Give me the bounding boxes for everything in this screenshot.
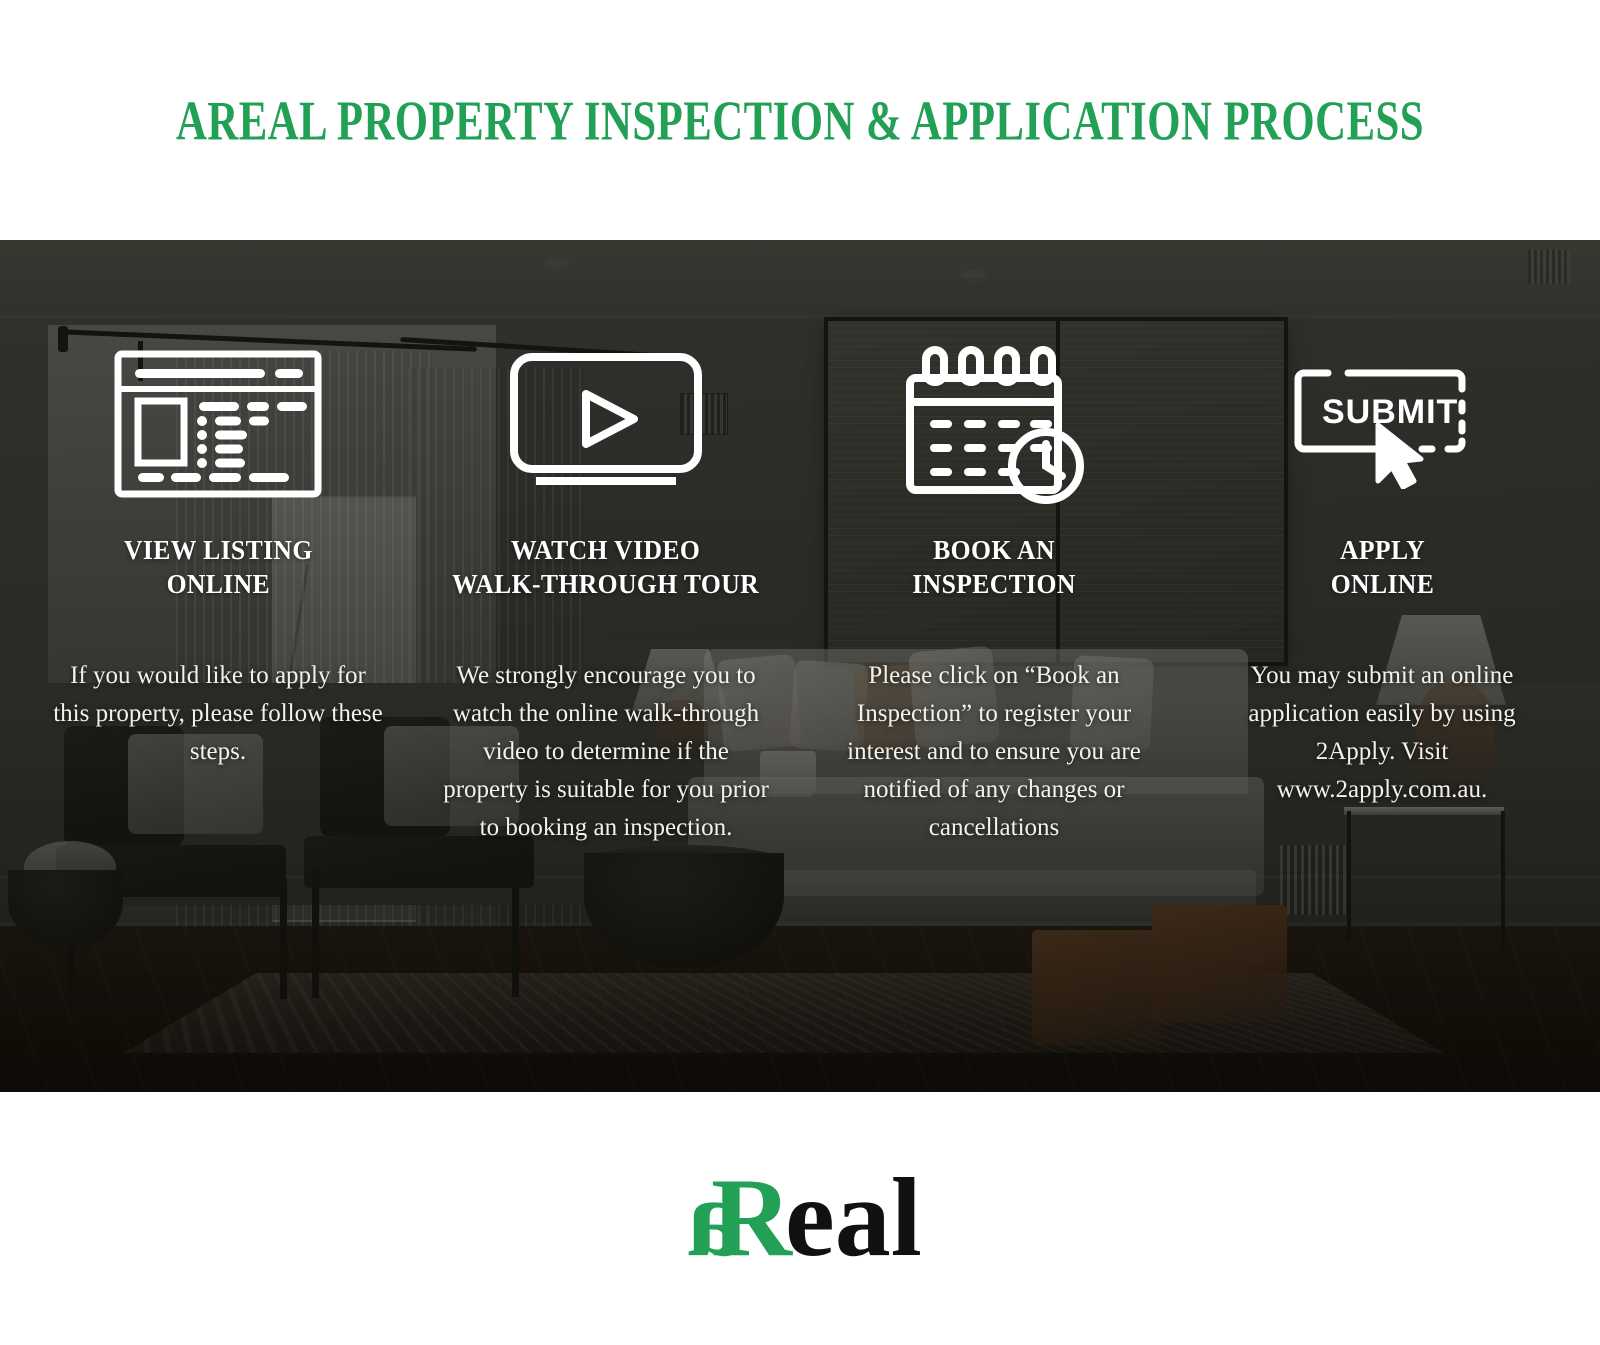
- logo-letter-r: R: [711, 1159, 793, 1279]
- page-footer: a R eal aReal: [0, 1092, 1600, 1345]
- hero-banner: VIEW LISTING ONLINE If you would like to…: [0, 240, 1600, 1092]
- page-header: AREAL PROPERTY INSPECTION & APPLICATION …: [0, 0, 1600, 240]
- areal-logo: a R eal aReal: [635, 1159, 965, 1279]
- step-title-line-1: APPLY: [1339, 535, 1424, 565]
- page-title: AREAL PROPERTY INSPECTION & APPLICATION …: [176, 88, 1424, 153]
- submit-icon-label: SUBMIT: [1322, 393, 1458, 431]
- step-title: WATCH VIDEO WALK-THROUGH TOUR: [453, 533, 760, 601]
- step-title-line-2: ONLINE: [166, 569, 269, 599]
- step-title: BOOK AN INSPECTION: [912, 533, 1075, 601]
- step-apply-online: SUBMIT APPLY ONLINE You may submit an on…: [1188, 240, 1576, 1092]
- step-description: If you would like to apply for this prop…: [53, 657, 383, 771]
- step-title-line-1: BOOK AN: [933, 535, 1055, 565]
- step-title-line-1: VIEW LISTING: [124, 535, 313, 565]
- step-title: VIEW LISTING ONLINE: [124, 533, 313, 601]
- step-title-line-1: WATCH VIDEO: [511, 535, 700, 565]
- step-title-line-2: ONLINE: [1330, 569, 1433, 599]
- submit-button-cursor-icon: SUBMIT: [1282, 336, 1482, 511]
- step-view-listing-online: VIEW LISTING ONLINE If you would like to…: [24, 240, 412, 1092]
- step-title-line-2: WALK-THROUGH TOUR: [453, 569, 760, 599]
- video-play-icon: [506, 336, 706, 511]
- step-title: APPLY ONLINE: [1330, 533, 1433, 601]
- process-steps: VIEW LISTING ONLINE If you would like to…: [0, 240, 1600, 1092]
- logo-letters-eal: eal: [785, 1159, 922, 1279]
- step-description: We strongly encourage you to watch the o…: [441, 657, 771, 847]
- calendar-clock-icon: [894, 336, 1094, 511]
- step-description: Please click on “Book an Inspection” to …: [829, 657, 1159, 847]
- step-title-line-2: INSPECTION: [912, 569, 1075, 599]
- listing-window-icon: [113, 336, 323, 511]
- step-description: You may submit an online application eas…: [1217, 657, 1547, 809]
- areal-logo-mark: a R eal: [635, 1159, 965, 1279]
- step-book-an-inspection: BOOK AN INSPECTION Please click on “Book…: [800, 240, 1188, 1092]
- step-watch-video-walkthrough: WATCH VIDEO WALK-THROUGH TOUR We strongl…: [412, 240, 800, 1092]
